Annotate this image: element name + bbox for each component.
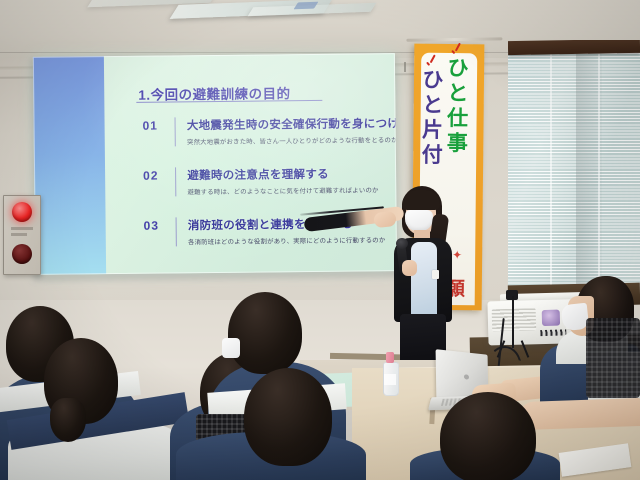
blind-cord[interactable] bbox=[598, 53, 600, 298]
window-valance bbox=[508, 40, 640, 55]
venetian-blinds[interactable] bbox=[508, 53, 640, 298]
banner-char: ひ bbox=[447, 56, 468, 81]
alarm-lamp-icon bbox=[12, 202, 32, 222]
audience-head bbox=[228, 292, 302, 374]
slide-item-divider bbox=[175, 167, 176, 196]
pump-cap-icon bbox=[386, 352, 394, 363]
slide-item-subtext: 突然大地震がおきた時、皆さん一人ひとりがどのような行動をとるのか bbox=[187, 135, 397, 146]
face-mask-icon bbox=[561, 303, 590, 332]
alarm-panel-label bbox=[11, 227, 33, 230]
laptop-logo-icon bbox=[464, 374, 469, 380]
presenter-shirt bbox=[411, 242, 437, 316]
banner-purple-column: ひ と 片 付 bbox=[419, 68, 446, 168]
slide-content: 1.今回の避難訓練の目的 01 大地震発生時の安全確保行動を身につける 突然大地… bbox=[104, 53, 397, 274]
face-mask-icon bbox=[405, 210, 433, 231]
window bbox=[508, 40, 640, 298]
photo-scene: 1.今回の避難訓練の目的 01 大地震発生時の安全確保行動を身につける 突然大地… bbox=[0, 0, 640, 480]
banner-char: ひ bbox=[422, 68, 443, 93]
face-mask-icon bbox=[222, 338, 240, 358]
slide-item-02: 02 避難時の注意点を理解する 避難する時は、どのようなことに気を付けて避難すれ… bbox=[143, 165, 379, 196]
tripod-pole bbox=[512, 296, 514, 348]
slide-item-heading: 大地震発生時の安全確保行動を身につける bbox=[187, 115, 397, 133]
audience-ponytail bbox=[50, 398, 86, 442]
bottle-label bbox=[384, 374, 396, 385]
banner-char: と bbox=[422, 93, 443, 118]
slide-item-number: 02 bbox=[143, 167, 173, 182]
presentation-slide: 1.今回の避難訓練の目的 01 大地震発生時の安全確保行動を身につける 突然大地… bbox=[33, 53, 397, 275]
projector-controls[interactable] bbox=[540, 329, 566, 336]
slide-item-01: 01 大地震発生時の安全確保行動を身につける 突然大地震がおきた時、皆さん一人ひ… bbox=[143, 115, 398, 147]
slide-item-number: 03 bbox=[144, 217, 174, 232]
banner-green-column: ひ と 仕 事 bbox=[444, 56, 471, 156]
name-badge bbox=[432, 270, 439, 279]
alarm-push-button-icon[interactable] bbox=[12, 244, 32, 264]
audience-head bbox=[440, 392, 536, 480]
slide-item-subtext: 各消防班はどのような役割があり、実際にどのように行動するのか bbox=[188, 235, 386, 246]
alarm-panel-label bbox=[11, 233, 27, 236]
banner-char: 仕 bbox=[447, 106, 468, 131]
chair-back bbox=[586, 318, 640, 398]
slide-item-number: 01 bbox=[143, 117, 173, 132]
slide-item-divider bbox=[176, 217, 177, 246]
slide-item-divider bbox=[175, 117, 176, 146]
presenter-mic-hand bbox=[402, 260, 417, 276]
blind-cord[interactable] bbox=[550, 53, 552, 298]
banner-char: 事 bbox=[447, 131, 468, 156]
banner-char: 片 bbox=[422, 118, 443, 143]
banner-char: 付 bbox=[422, 143, 443, 168]
screen-hook-icon bbox=[404, 62, 406, 72]
slide-item-heading: 避難時の注意点を理解する bbox=[187, 165, 378, 183]
projection-screen: 1.今回の避難訓練の目的 01 大地震発生時の安全確保行動を身につける 突然大地… bbox=[33, 53, 397, 275]
fire-alarm-panel[interactable] bbox=[3, 195, 41, 275]
operator-forearm bbox=[520, 398, 640, 430]
projector-lens-icon bbox=[542, 310, 560, 326]
banner-char: と bbox=[447, 81, 468, 106]
slide-accent-bar bbox=[33, 56, 106, 275]
slide-item-subtext: 避難する時は、どのようなことに気を付けて避難すればよいのか bbox=[187, 185, 378, 196]
audience-head bbox=[244, 368, 332, 466]
microphone-icon bbox=[396, 238, 408, 249]
presenter-hand bbox=[373, 211, 396, 228]
presenter-hair-front bbox=[402, 190, 440, 210]
sanitizer-bottle[interactable] bbox=[383, 352, 397, 394]
presenter bbox=[376, 186, 472, 358]
